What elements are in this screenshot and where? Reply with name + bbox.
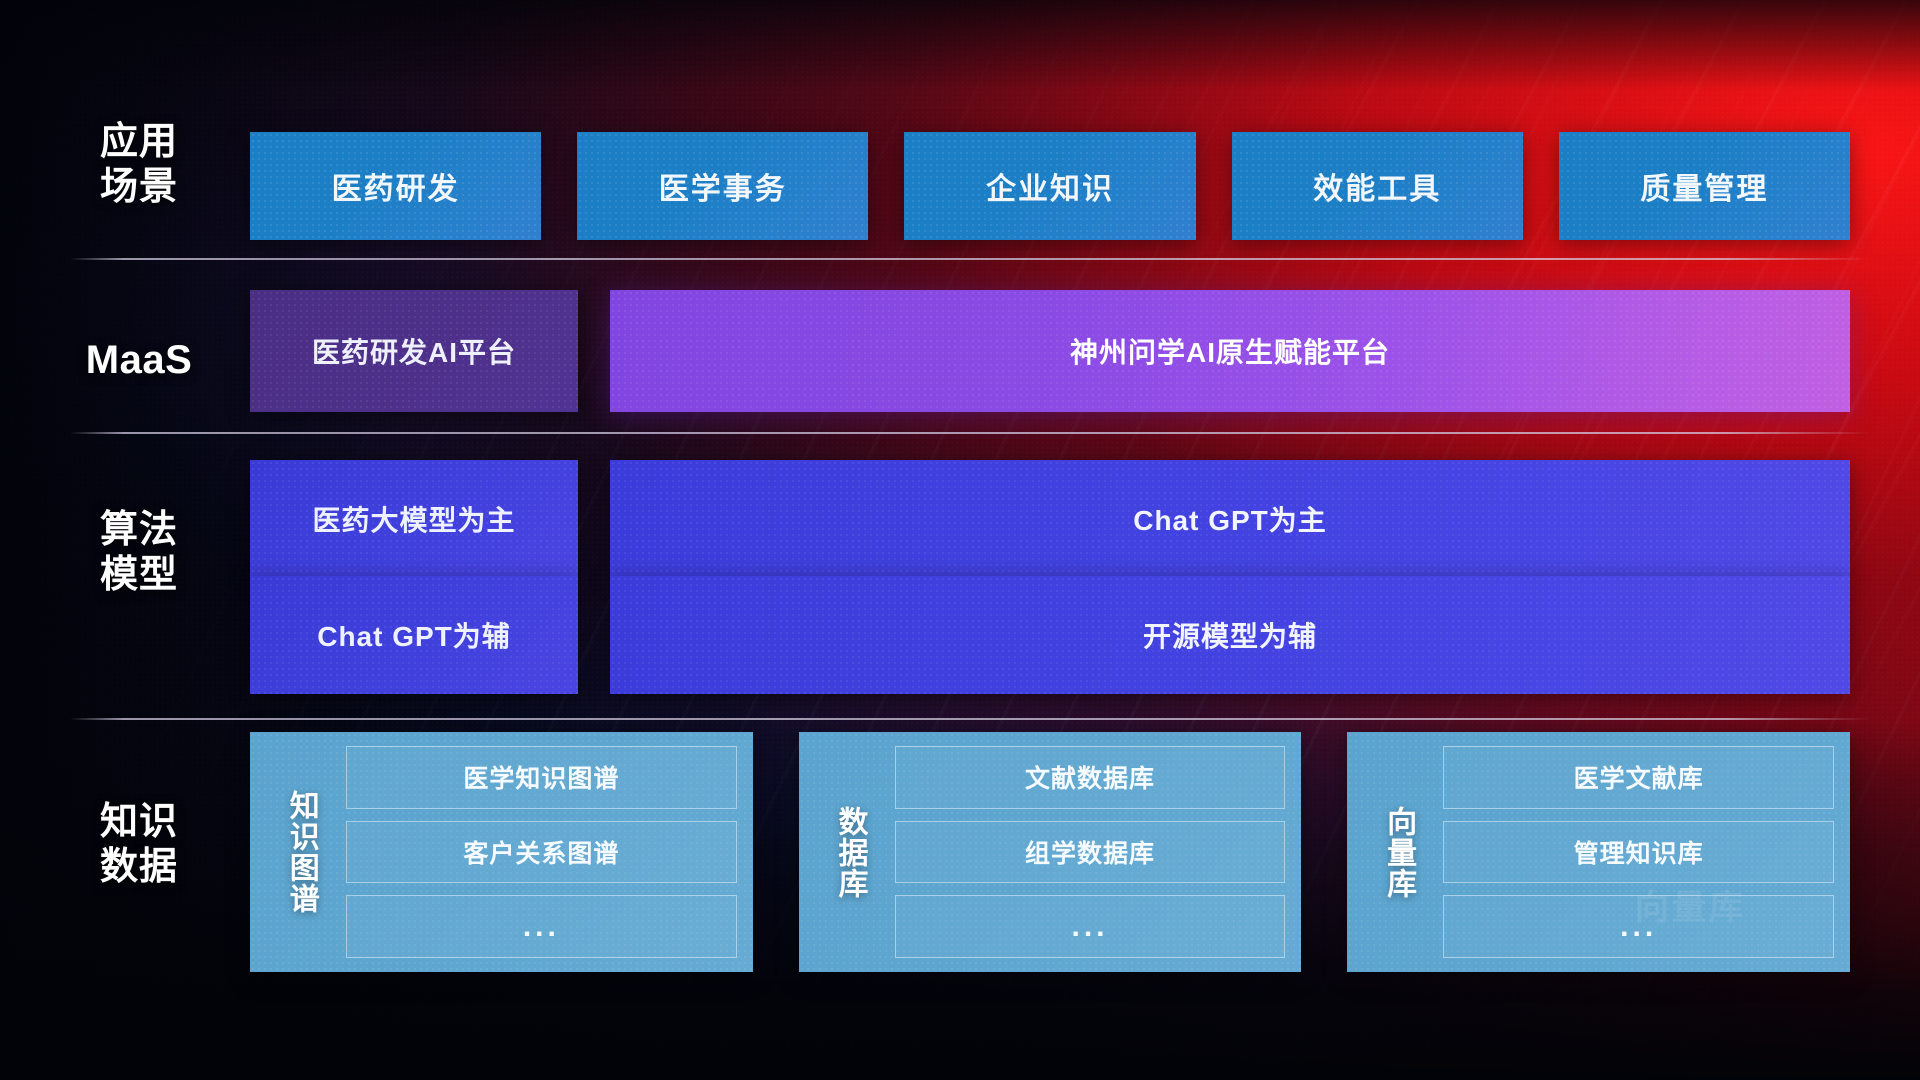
row-label-algorithm-models: 算法 模型 (72, 508, 206, 598)
row-label-knowledge-data: 知识 数据 (72, 800, 206, 890)
row-label-maas: MaaS (72, 337, 206, 384)
knowledge-item-medical-knowledge-graph[interactable]: 医学知识图谱 (346, 746, 737, 809)
knowledge-item-label: 医学知识图谱 (463, 759, 619, 795)
knowledge-panel-item-list: 文献数据库 组学数据库 ... (887, 746, 1286, 958)
maas-box-drug-rd-ai-platform[interactable]: 医药研发AI平台 (250, 290, 578, 412)
model-box-chatgpt-primary[interactable]: Chat GPT为主 (610, 460, 1850, 578)
knowledge-item-more-ellipsis[interactable]: ... (895, 895, 1286, 958)
scenario-label: 医药研发 (332, 164, 460, 208)
knowledge-item-label: 客户关系图谱 (463, 834, 619, 870)
knowledge-data-row: 知识图谱 医学知识图谱 客户关系图谱 ... 数据库 (250, 732, 1850, 972)
application-scenario-row: 医药研发 医学事务 企业知识 效能工具 质量管理 (250, 132, 1850, 240)
scenario-box-efficiency-tools[interactable]: 效能工具 (1232, 132, 1523, 240)
model-label: Chat GPT为辅 (317, 615, 511, 655)
knowledge-item-label: 医学文献库 (1574, 759, 1704, 795)
model-label: 开源模型为辅 (1143, 615, 1317, 655)
algorithm-model-row-primary: 医药大模型为主 Chat GPT为主 (250, 460, 1850, 578)
row-divider-algorithm-knowledge (70, 718, 1870, 720)
model-label: 医药大模型为主 (312, 499, 515, 539)
algorithm-model-row-secondary: Chat GPT为辅 开源模型为辅 (250, 576, 1850, 694)
scenario-label: 医学事务 (659, 164, 787, 208)
scenario-box-quality-management[interactable]: 质量管理 (1559, 132, 1850, 240)
row-divider-application-maas (70, 258, 1870, 260)
knowledge-panel-database: 数据库 文献数据库 组学数据库 ... (799, 732, 1302, 972)
knowledge-item-more-ellipsis[interactable]: ... (346, 895, 737, 958)
scenario-label: 企业知识 (986, 164, 1114, 208)
knowledge-item-label: 管理知识库 (1574, 834, 1704, 870)
knowledge-panel-item-list: 医学文献库 管理知识库 ... (1435, 746, 1834, 958)
maas-box-shenzhou-wenxue-platform[interactable]: 神州问学AI原生赋能平台 (610, 290, 1850, 412)
knowledge-item-label: 组学数据库 (1025, 834, 1155, 870)
row-divider-maas-algorithm (70, 432, 1870, 434)
knowledge-panel-title: 知识图谱 (264, 746, 338, 958)
knowledge-panel-title: 数据库 (813, 746, 887, 958)
knowledge-item-omics-database[interactable]: 组学数据库 (895, 821, 1286, 884)
knowledge-item-customer-relation-graph[interactable]: 客户关系图谱 (346, 821, 737, 884)
knowledge-item-label: ... (1620, 910, 1657, 944)
model-box-opensource-secondary[interactable]: 开源模型为辅 (610, 576, 1850, 694)
scenario-label: 效能工具 (1313, 164, 1441, 208)
knowledge-item-label: 文献数据库 (1025, 759, 1155, 795)
model-box-pharma-llm-primary[interactable]: 医药大模型为主 (250, 460, 578, 578)
row-label-application-scenarios: 应用 场景 (72, 120, 206, 210)
knowledge-item-management-knowledge-store[interactable]: 管理知识库 (1443, 821, 1834, 884)
maas-row: 医药研发AI平台 神州问学AI原生赋能平台 (250, 290, 1850, 412)
scenario-box-drug-rd[interactable]: 医药研发 (250, 132, 541, 240)
diagram-content: 应用 场景 MaaS 算法 模型 知识 数据 医药研发 医学事务 企业知识 效能… (0, 0, 1920, 1080)
scenario-box-medical-affairs[interactable]: 医学事务 (577, 132, 868, 240)
scenario-label: 质量管理 (1640, 164, 1768, 208)
knowledge-panel-knowledge-graph: 知识图谱 医学知识图谱 客户关系图谱 ... (250, 732, 753, 972)
knowledge-panel-title: 向量库 (1361, 746, 1435, 958)
knowledge-item-label: ... (1072, 910, 1109, 944)
architecture-diagram-canvas: 应用 场景 MaaS 算法 模型 知识 数据 医药研发 医学事务 企业知识 效能… (0, 0, 1920, 1080)
maas-right-label: 神州问学AI原生赋能平台 (1070, 331, 1390, 371)
knowledge-panel-vector-store: 向量库 向量库 医学文献库 管理知识库 ... (1347, 732, 1850, 972)
knowledge-panel-item-list: 医学知识图谱 客户关系图谱 ... (338, 746, 737, 958)
scenario-box-enterprise-knowledge[interactable]: 企业知识 (904, 132, 1195, 240)
model-box-chatgpt-secondary[interactable]: Chat GPT为辅 (250, 576, 578, 694)
model-label: Chat GPT为主 (1133, 499, 1327, 539)
knowledge-item-medical-literature-store[interactable]: 医学文献库 (1443, 746, 1834, 809)
knowledge-item-literature-database[interactable]: 文献数据库 (895, 746, 1286, 809)
maas-left-label: 医药研发AI平台 (312, 331, 516, 371)
knowledge-item-label: ... (523, 910, 560, 944)
knowledge-item-more-ellipsis[interactable]: ... (1443, 895, 1834, 958)
